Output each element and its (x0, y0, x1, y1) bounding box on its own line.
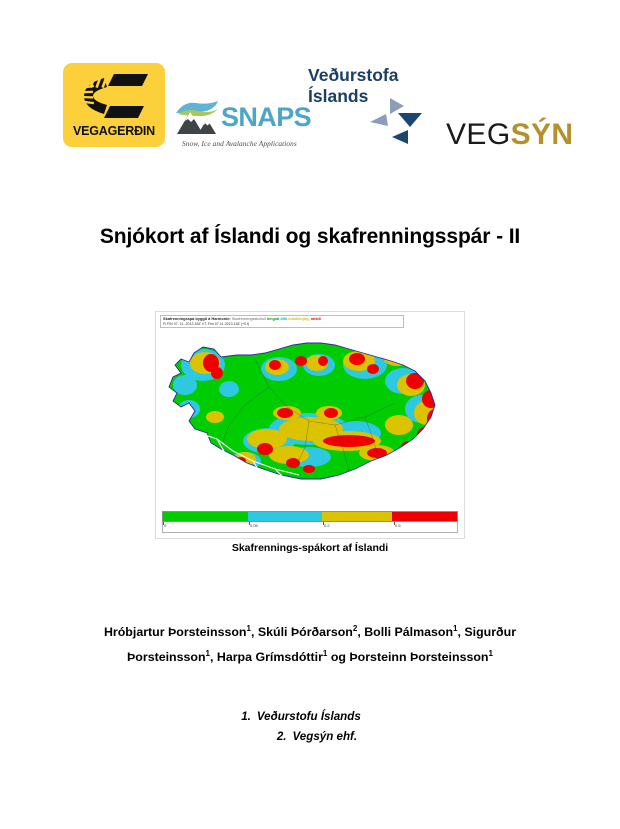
author-line-2: Þorsteinsson1, Harpa Grímsdóttir1 og Þor… (60, 645, 560, 670)
colorbar-segments (162, 511, 458, 522)
pinwheel-icon (370, 96, 424, 144)
colorbar-tick: 0.05 (250, 523, 258, 528)
colorbar-seg-cyan (248, 512, 322, 521)
logo-vedurstofa-islands: Veðurstofa Íslands (308, 65, 438, 143)
author-entry: Sigurður (464, 625, 516, 639)
snow-mountain-icon (174, 100, 220, 136)
colorbar-seg-green (163, 512, 248, 521)
author-entry: Þorsteinn Þorsteinsson1 (349, 650, 493, 664)
map-header-legend-label: Skafrenningsstuðull (232, 316, 266, 321)
map-header-legend-green: lengsti (267, 316, 280, 321)
logo-vegagerdin: VEGAGERÐIN (63, 63, 165, 147)
map-header-title: Skafrenningsspá byggð á Harmonie: (163, 316, 231, 321)
map-header-timestamp: Fi FIN 07. 11. 2013 18Z VT: Fim 07.11.20… (163, 322, 401, 326)
author-line-1: Hróbjartur Þorsteinsson1, Skúli Þórðarso… (60, 620, 560, 645)
author-entry: Bolli Pálmason1, (364, 625, 464, 639)
affiliation-number: 2. (277, 730, 287, 743)
map-header-legend-yellow: mikill/mjög (288, 316, 308, 321)
colorbar-tick: 0.2 (324, 523, 330, 528)
document-page: VEGAGERÐIN SNAPS Snow, Ice and Avalanche… (0, 0, 620, 829)
logo-band: VEGAGERÐIN SNAPS Snow, Ice and Avalanche… (0, 52, 620, 162)
affiliation-list: 1.Veðurstofu Íslands 2.Vegsýn ehf. (0, 707, 620, 747)
author-list: Hróbjartur Þorsteinsson1, Skúli Þórðarso… (60, 620, 560, 670)
figure-snowdrift-map: Skafrenningsspá byggð á Harmonie: Skafre… (155, 311, 465, 539)
logo-vegsyn: VEGSÝN (446, 118, 573, 152)
colorbar-ticks: 0 0.05 0.2 0.5 (162, 522, 458, 533)
colorbar-seg-yellow (322, 512, 393, 521)
iceland-snowdrift-map (159, 329, 461, 507)
map-colorbar: 0 0.05 0.2 0.5 (162, 511, 458, 533)
affiliation-name: Veðurstofu Íslands (257, 710, 361, 723)
affiliation-number: 1. (241, 710, 251, 723)
author-entry: Skúli Þórðarson2, (258, 625, 364, 639)
vegagerdin-wordmark: VEGAGERÐIN (63, 124, 165, 138)
map-header-legend-red: mikill (311, 316, 321, 321)
affiliation-item: 1.Veðurstofu Íslands (0, 707, 620, 727)
author-entry: Hróbjartur Þorsteinsson1, (104, 625, 258, 639)
affiliation-name: Vegsýn ehf. (293, 730, 358, 743)
author-entry: Þorsteinsson1, (127, 650, 217, 664)
logo-snaps: SNAPS Snow, Ice and Avalanche Applicatio… (174, 100, 306, 152)
affiliation-item: 2.Vegsýn ehf. (0, 727, 620, 747)
snaps-tagline: Snow, Ice and Avalanche Applications (182, 139, 297, 148)
snaps-wordmark: SNAPS (221, 102, 311, 133)
vedurstofa-line1: Veðurstofa (308, 65, 398, 86)
vegsyn-part1: VEG (446, 118, 511, 151)
map-header-box: Skafrenningsspá byggð á Harmonie: Skafre… (160, 315, 404, 328)
author-entry: Harpa Grímsdóttir1 og (217, 650, 350, 664)
figure-caption: Skafrennings-spákort af Íslandi (0, 542, 620, 554)
road-curve-icon (74, 72, 154, 120)
colorbar-tick: 0 (164, 523, 166, 528)
vegsyn-part2: SÝN (511, 118, 574, 151)
colorbar-tick: 0.5 (395, 523, 401, 528)
page-title: Snjókort af Íslandi og skafrenningsspár … (0, 225, 620, 249)
colorbar-seg-red (392, 512, 457, 521)
